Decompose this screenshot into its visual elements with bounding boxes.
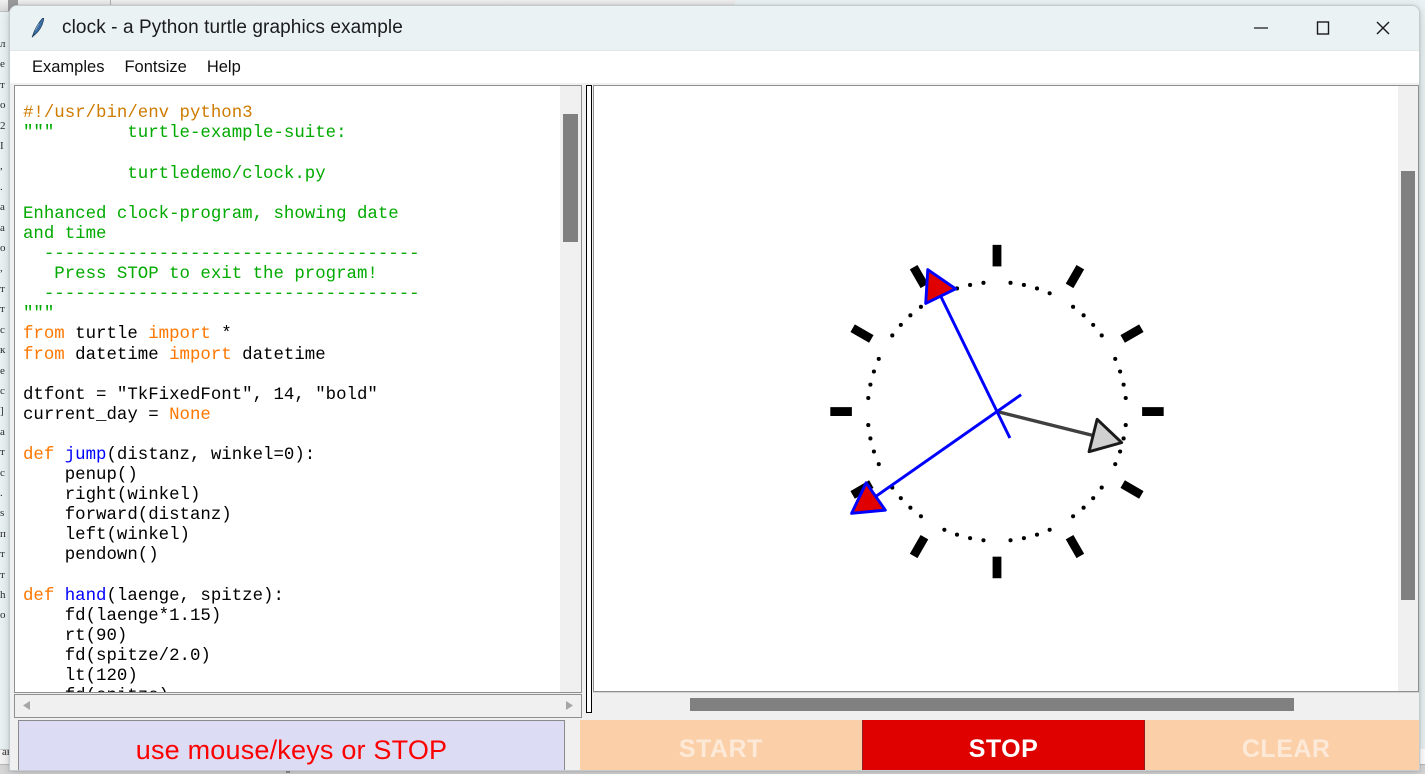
hour-tick: [1070, 267, 1081, 286]
clock-drawing: [594, 86, 1400, 691]
minute-dot: [1118, 449, 1122, 453]
scroll-right-icon[interactable]: [562, 699, 575, 712]
minimize-icon[interactable]: [1231, 6, 1291, 50]
minute-dot: [1091, 323, 1095, 327]
hour-tick: [1123, 484, 1142, 495]
minute-dot: [877, 462, 881, 466]
minute-dot: [1118, 369, 1122, 373]
maximize-icon[interactable]: [1293, 6, 1353, 50]
python-feather-icon: [26, 16, 50, 40]
minute-dot: [908, 313, 912, 317]
minute-dot: [1113, 357, 1117, 361]
minute-dot: [981, 281, 985, 285]
minute-dot: [899, 323, 903, 327]
title-bar[interactable]: clock - a Python turtle graphics example: [10, 6, 1419, 51]
minute-dot: [1022, 283, 1026, 287]
pane-divider[interactable]: [584, 83, 593, 770]
menu-item-examples[interactable]: Examples: [22, 56, 114, 79]
minute-dot: [866, 423, 870, 427]
second-hand-arrowhead: [852, 483, 886, 514]
menu-item-fontsize[interactable]: Fontsize: [114, 56, 196, 79]
minute-dot: [942, 528, 946, 532]
minute-dot: [1035, 533, 1039, 537]
minute-dot: [899, 496, 903, 500]
turtledemo-window: clock - a Python turtle graphics example…: [9, 5, 1420, 771]
clear-button[interactable]: CLEAR: [1145, 720, 1420, 771]
menu-bar: Examples Fontsize Help: [10, 51, 1419, 84]
canvas-horizontal-scrollbar-thumb[interactable]: [690, 698, 1294, 711]
canvas-vertical-scrollbar-thumb[interactable]: [1401, 171, 1415, 600]
minute-dot: [1008, 281, 1012, 285]
minute-dot: [1048, 291, 1052, 295]
minute-dot: [1100, 486, 1104, 490]
status-bar: use mouse/keys or STOP: [18, 720, 565, 771]
canvas-vertical-scrollbar[interactable]: [1398, 85, 1419, 692]
minute-dot: [872, 369, 876, 373]
minute-dot: [1071, 514, 1075, 518]
minute-dot: [1122, 436, 1126, 440]
hour-tick: [914, 537, 925, 556]
minute-dot: [868, 383, 872, 387]
hour-tick: [914, 267, 925, 286]
minute-dot: [981, 538, 985, 542]
turtle-canvas[interactable]: [593, 85, 1400, 692]
canvas-horizontal-scrollbar[interactable]: [593, 692, 1419, 717]
minute-dot: [890, 333, 894, 337]
source-code-text: #!/usr/bin/env python3 """ turtle-exampl…: [23, 104, 420, 693]
source-code-viewer[interactable]: #!/usr/bin/env python3 """ turtle-exampl…: [14, 85, 560, 693]
minute-dot: [1124, 423, 1128, 427]
menu-item-help[interactable]: Help: [197, 56, 251, 79]
clock-hands: [852, 270, 1122, 514]
hour-tick: [1123, 328, 1142, 339]
minute-dot: [877, 357, 881, 361]
code-vertical-scrollbar[interactable]: [560, 85, 582, 693]
minute-dot: [872, 449, 876, 453]
canvas-pane: [593, 83, 1419, 770]
minute-dot: [919, 514, 923, 518]
minute-dot: [868, 436, 872, 440]
minute-dot: [1048, 528, 1052, 532]
second-hand-shaft: [860, 395, 1021, 507]
minute-dot: [866, 396, 870, 400]
minute-dot: [1091, 496, 1095, 500]
minute-dot: [919, 305, 923, 309]
minute-dot: [1124, 396, 1128, 400]
minute-dot: [1082, 313, 1086, 317]
code-vertical-scrollbar-thumb[interactable]: [563, 114, 578, 242]
hour-tick: [853, 328, 872, 339]
minute-dot: [1100, 333, 1104, 337]
minute-dot: [1122, 383, 1126, 387]
minute-dot: [968, 536, 972, 540]
scroll-left-icon[interactable]: [21, 699, 34, 712]
window-title: clock - a Python turtle graphics example: [62, 17, 403, 39]
minute-dot: [968, 283, 972, 287]
control-button-bar: START STOP CLEAR: [580, 720, 1420, 771]
code-pane: #!/usr/bin/env python3 """ turtle-exampl…: [14, 83, 578, 770]
window-body: #!/usr/bin/env python3 """ turtle-exampl…: [10, 83, 1419, 770]
stop-button[interactable]: STOP: [862, 720, 1146, 771]
minute-dot: [1008, 538, 1012, 542]
hour-hand-arrowhead: [1089, 419, 1122, 451]
start-button[interactable]: START: [580, 720, 862, 771]
hour-tick: [1070, 537, 1081, 556]
code-horizontal-scrollbar[interactable]: [14, 694, 582, 718]
minute-dot: [1022, 536, 1026, 540]
close-icon[interactable]: [1353, 6, 1413, 50]
minute-dot: [1035, 286, 1039, 290]
minute-dot: [1113, 462, 1117, 466]
minute-dot: [1082, 506, 1086, 510]
status-message: use mouse/keys or STOP: [136, 735, 448, 766]
minute-dot: [908, 506, 912, 510]
minute-hand-shaft: [933, 279, 1010, 438]
minute-dot: [1071, 305, 1075, 309]
minute-dot: [955, 533, 959, 537]
